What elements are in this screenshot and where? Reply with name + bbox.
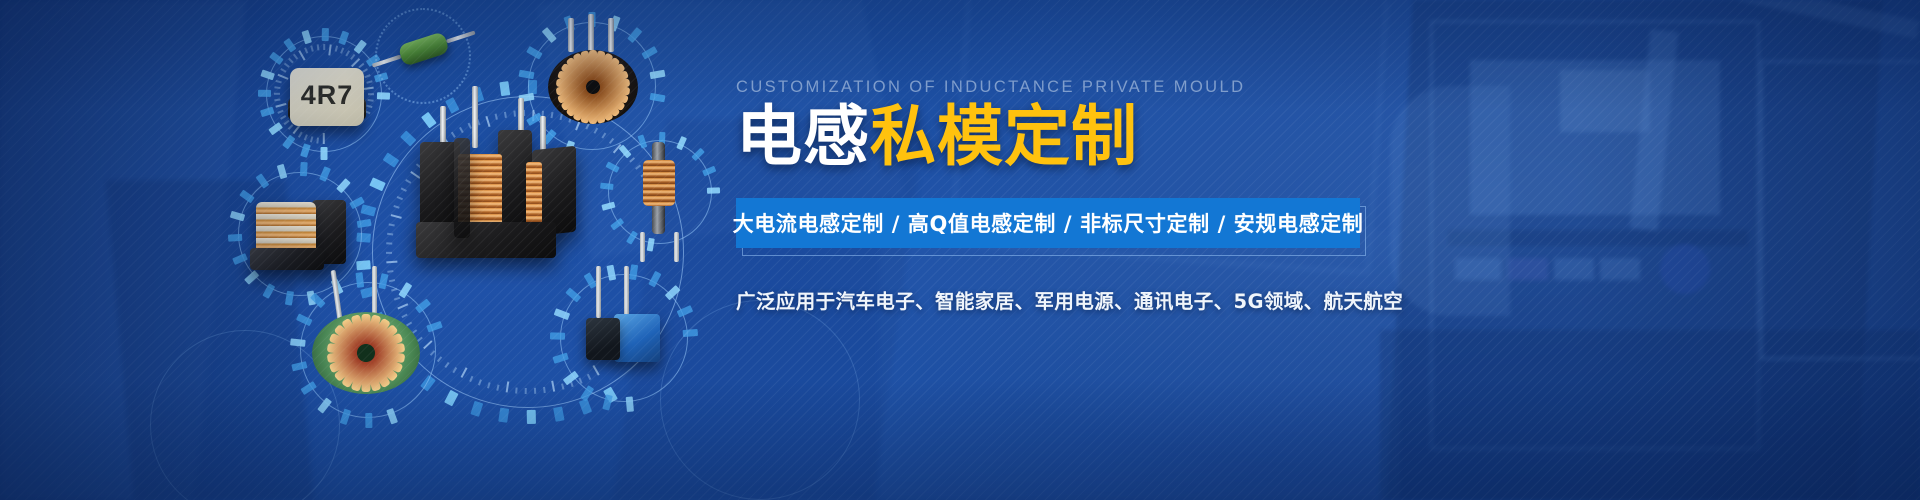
headline-yellow-part: 私模定制: [870, 98, 1138, 175]
page-title: 电感私模定制: [736, 101, 1396, 172]
feature-bar-label: 大电流电感定制 / 高Q值电感定制 / 非标尺寸定制 / 安规电感定制: [733, 208, 1364, 238]
banner-content: CUSTOMIZATION OF INDUCTANCE PRIVATE MOUL…: [736, 78, 1396, 314]
feature-bar[interactable]: 大电流电感定制 / 高Q值电感定制 / 非标尺寸定制 / 安规电感定制: [736, 198, 1360, 248]
promo-banner: 4R7: [0, 0, 1920, 500]
application-description: 广泛应用于汽车电子、智能家居、军用电源、通讯电子、5G领域、航天航空: [736, 285, 1396, 314]
feature-bar-wrapper: 大电流电感定制 / 高Q值电感定制 / 非标尺寸定制 / 安规电感定制: [736, 198, 1360, 248]
headline-white-part: 电感: [736, 98, 870, 175]
eyebrow-subtitle: CUSTOMIZATION OF INDUCTANCE PRIVATE MOUL…: [736, 78, 1396, 97]
